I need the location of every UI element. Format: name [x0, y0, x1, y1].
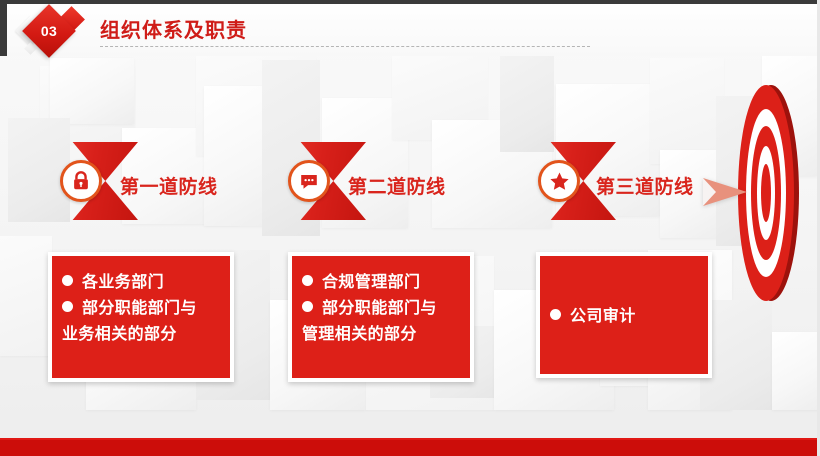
lock-icon [60, 160, 102, 202]
bullet-icon [62, 301, 73, 312]
bullet-icon [550, 309, 561, 320]
chevron-label-line-3: 第三道防线 [596, 172, 694, 199]
speech-bubble-icon [288, 160, 330, 202]
content-box-line-3[interactable]: 公司审计 [536, 252, 712, 378]
list-item-continuation: 业务相关的部分 [62, 322, 222, 348]
window-frame-left [0, 0, 7, 56]
arrow-tail-mask [703, 178, 716, 206]
bullet-icon [302, 275, 313, 286]
list-item-label: 合规管理部门 [322, 274, 420, 291]
slide-background [0, 0, 820, 456]
list-item-label: 部分职能部门与 [82, 300, 197, 317]
list-item: 部分职能部门与 [302, 296, 462, 322]
list-item: 合规管理部门 [302, 270, 462, 296]
title-underline-divider [100, 46, 590, 47]
chevron-label-line-1: 第一道防线 [120, 172, 218, 199]
section-number-badge: 03 [18, 6, 92, 58]
list-item-continuation: 管理相关的部分 [302, 322, 462, 348]
list-item: 部分职能部门与 [62, 296, 222, 322]
list-item-label: 各业务部门 [82, 274, 164, 291]
bottom-bar-highlight [0, 438, 820, 440]
window-frame-top [0, 0, 820, 4]
bullseye-target [735, 82, 797, 304]
list-item-label: 公司审计 [570, 308, 636, 325]
content-box-line-1[interactable]: 各业务部门 部分职能部门与 业务相关的部分 [48, 252, 234, 382]
bullet-icon [302, 301, 313, 312]
slide-canvas: 03 组织体系及职责 第一道防线 第二道防线 [0, 0, 820, 456]
list-item-label: 部分职能部门与 [322, 300, 437, 317]
section-number-text: 03 [30, 12, 68, 50]
list-item: 公司审计 [550, 304, 636, 330]
chevron-label-line-2: 第二道防线 [348, 172, 446, 199]
page-title: 组织体系及职责 [100, 14, 247, 43]
list-item: 各业务部门 [62, 270, 222, 296]
bottom-accent-bar [0, 438, 820, 456]
star-icon [538, 160, 580, 202]
bullet-icon [62, 275, 73, 286]
content-box-line-2[interactable]: 合规管理部门 部分职能部门与 管理相关的部分 [288, 252, 474, 382]
